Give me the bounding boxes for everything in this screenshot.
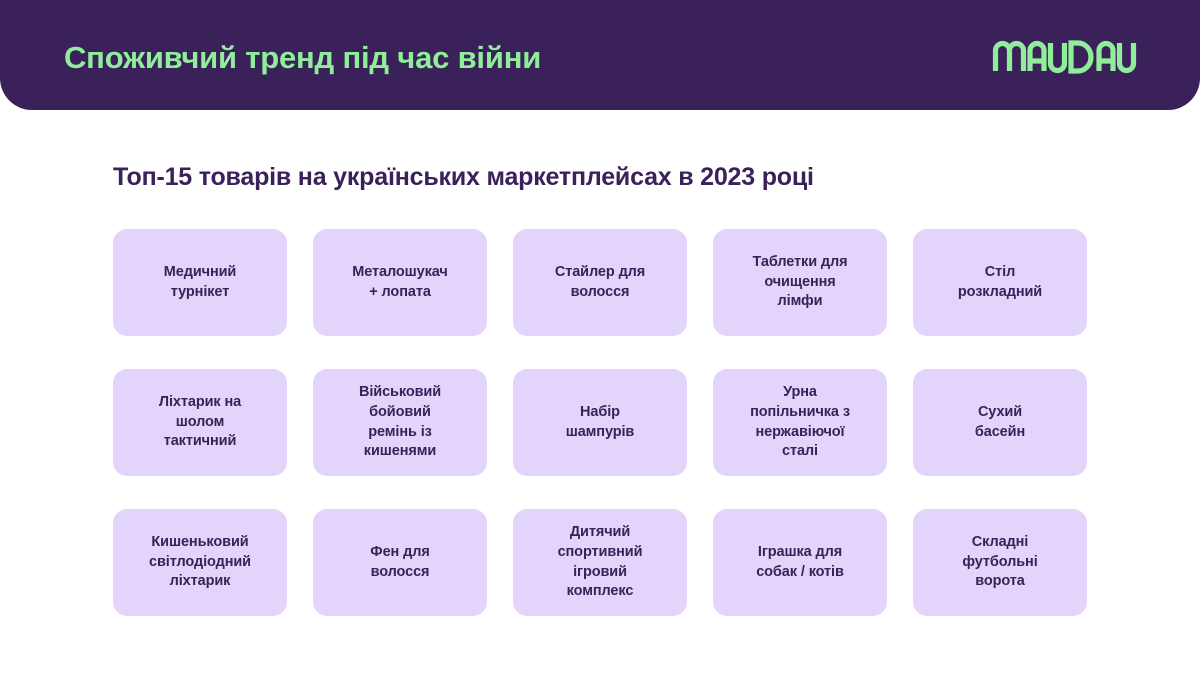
product-card: Стіл розкладний [913, 229, 1087, 336]
product-card: Військовий бойовий ремінь із кишенями [313, 369, 487, 476]
product-card: Кишеньковий світлодіодний ліхтарик [113, 509, 287, 616]
product-card-label: Військовий бойовий ремінь із кишенями [359, 383, 441, 462]
product-card-label: Іграшка для собак / котів [756, 543, 844, 582]
product-card: Дитячий спортивний ігровий комплекс [513, 509, 687, 616]
header-bar: Споживчий тренд під час війни [0, 0, 1200, 110]
product-card-label: Дитячий спортивний ігровий комплекс [558, 523, 643, 602]
product-card: Металошукач + лопата [313, 229, 487, 336]
product-card: Іграшка для собак / котів [713, 509, 887, 616]
product-card: Складні футбольні ворота [913, 509, 1087, 616]
product-card-label: Таблетки для очищення лімфи [752, 253, 847, 312]
product-card-label: Кишеньковий світлодіодний ліхтарик [149, 533, 251, 592]
product-card-label: Складні футбольні ворота [962, 533, 1037, 592]
product-card: Набір шампурів [513, 369, 687, 476]
product-card-label: Урна попільничка з нержавіючої сталі [750, 383, 850, 462]
maudau-logo-icon [992, 40, 1142, 74]
product-card-label: Стіл розкладний [958, 263, 1042, 302]
product-card: Таблетки для очищення лімфи [713, 229, 887, 336]
product-card-label: Набір шампурів [566, 403, 635, 442]
product-card: Фен для волосся [313, 509, 487, 616]
product-card: Урна попільничка з нержавіючої сталі [713, 369, 887, 476]
section-subtitle: Топ-15 товарів на українських маркетплей… [113, 162, 814, 192]
product-card: Медичний турнікет [113, 229, 287, 336]
product-card-label: Фен для волосся [370, 543, 429, 582]
product-card: Сухий басейн [913, 369, 1087, 476]
product-card: Ліхтарик на шолом тактичний [113, 369, 287, 476]
product-card-label: Металошукач + лопата [352, 263, 447, 302]
product-card-label: Медичний турнікет [164, 263, 236, 302]
product-card-grid: Медичний турнікет Металошукач + лопата С… [113, 229, 1088, 616]
product-card-label: Стайлер для волосся [555, 263, 645, 302]
product-card: Стайлер для волосся [513, 229, 687, 336]
product-card-label: Сухий басейн [975, 403, 1025, 442]
page-title: Споживчий тренд під час війни [64, 41, 541, 75]
product-card-label: Ліхтарик на шолом тактичний [159, 393, 241, 452]
maudau-logo [992, 40, 1142, 74]
